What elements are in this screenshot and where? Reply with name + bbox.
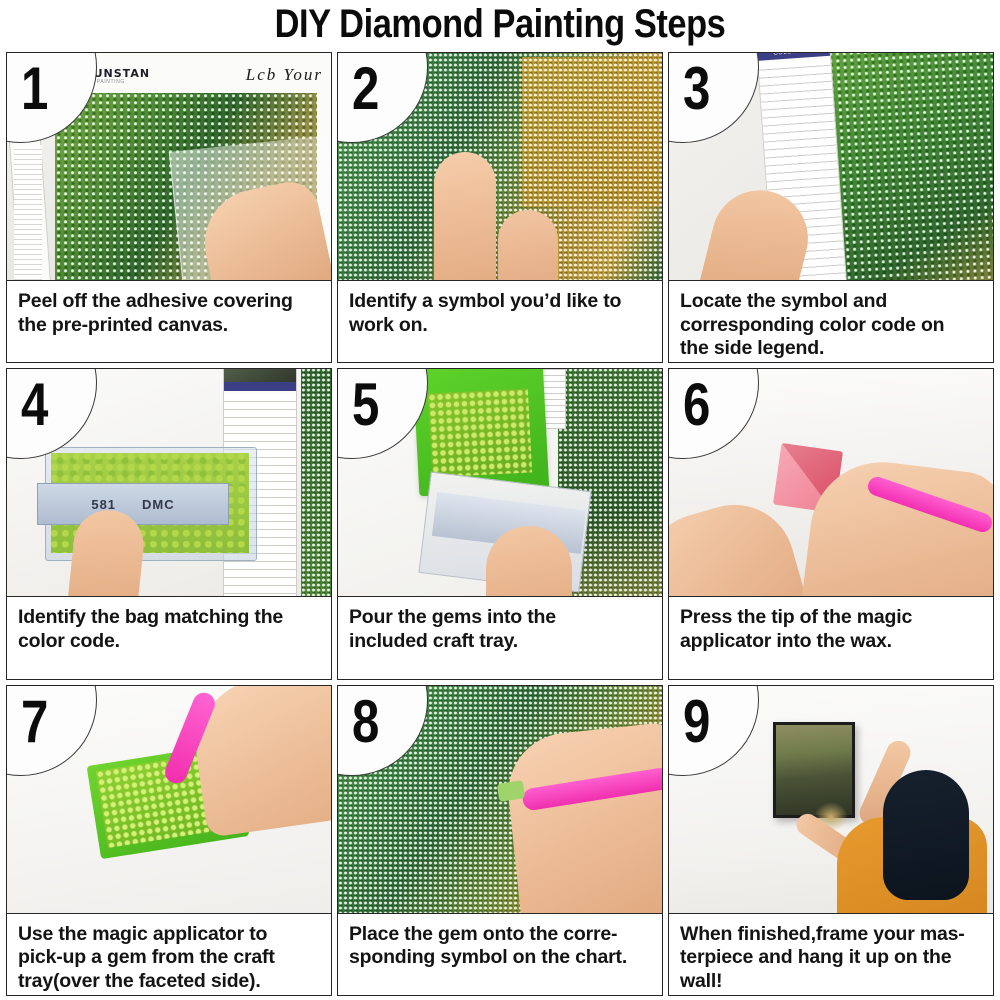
step-card-4: 581 DMC 4 Identify the bag matching the … — [6, 368, 332, 679]
step-5-photo: 5 — [338, 369, 662, 597]
step-number: 3 — [683, 59, 710, 119]
step-caption: Use the magic applicator to pick-up a ge… — [7, 914, 331, 996]
step-card-9: 9 When finished,frame your mas- terpiece… — [668, 685, 994, 996]
infographic-page: DIY Diamond Painting Steps LUCUNSTAN DIA… — [0, 0, 1000, 1000]
step-8-photo: 8 — [338, 686, 662, 914]
gem-on-tip — [497, 780, 525, 802]
pointing-finger — [434, 152, 496, 281]
step-card-6: 6 Press the tip of the magic applicator … — [668, 368, 994, 679]
step-number: 8 — [352, 692, 379, 752]
step-3-photo: COLOR LIST 3 — [669, 53, 993, 281]
step-number: 1 — [21, 59, 48, 119]
step-caption: Locate the symbol and corresponding colo… — [669, 281, 993, 363]
canvas-dot-texture — [301, 369, 331, 597]
handwritten-text: Lcb Your — [246, 65, 323, 85]
painting-artwork — [776, 725, 852, 815]
step-number: 9 — [683, 692, 710, 752]
step-card-7: 7 Use the magic applicator to pick-up a … — [6, 685, 332, 996]
step-caption: Pour the gems into the included craft tr… — [338, 597, 662, 678]
step-caption: Identify a symbol you’d like to work on. — [338, 281, 662, 362]
legend-header-band — [224, 382, 296, 391]
second-finger — [498, 210, 558, 281]
step-caption: When finished,frame your mas- terpiece a… — [669, 914, 993, 996]
legend-rows — [14, 145, 42, 281]
step-caption: Press the tip of the magic applicator in… — [669, 597, 993, 678]
step-card-1: LUCUNSTAN DIAMOND PAINTING Lcb Your 1 Pe… — [6, 52, 332, 363]
step-number: 2 — [352, 59, 379, 119]
canvas-edge — [301, 369, 331, 597]
step-4-photo: 581 DMC 4 — [7, 369, 331, 597]
step-6-photo: 6 — [669, 369, 993, 597]
step-card-8: 8 Place the gem onto the corre- sponding… — [337, 685, 663, 996]
step-card-2: 2 Identify a symbol you’d like to work o… — [337, 52, 663, 363]
step-7-photo: 7 — [7, 686, 331, 914]
step-caption: Place the gem onto the corre- sponding s… — [338, 914, 662, 995]
steps-grid: LUCUNSTAN DIAMOND PAINTING Lcb Your 1 Pe… — [6, 52, 994, 996]
legend-preview-image — [224, 369, 296, 382]
step-number: 5 — [352, 375, 379, 435]
step-caption: Peel off the adhesive covering the pre-p… — [7, 281, 331, 362]
step-number: 4 — [21, 375, 48, 435]
bag-code-secondary: DMC — [142, 497, 175, 512]
person-hair — [883, 770, 969, 900]
hand — [503, 721, 662, 913]
step-caption: Identify the bag matching the color code… — [7, 597, 331, 678]
step-9-photo: 9 — [669, 686, 993, 914]
gems-in-tray — [428, 389, 532, 478]
step-1-photo: LUCUNSTAN DIAMOND PAINTING Lcb Your 1 — [7, 53, 331, 281]
step-card-5: 5 Pour the gems into the included craft … — [337, 368, 663, 679]
step-card-3: COLOR LIST 3 Locate the symbol and corre… — [668, 52, 994, 363]
page-title: DIY Diamond Painting Steps — [70, 0, 930, 48]
left-hand — [669, 491, 809, 597]
step-2-photo: 2 — [338, 53, 662, 281]
step-number: 6 — [683, 375, 710, 435]
step-number: 7 — [21, 692, 48, 752]
